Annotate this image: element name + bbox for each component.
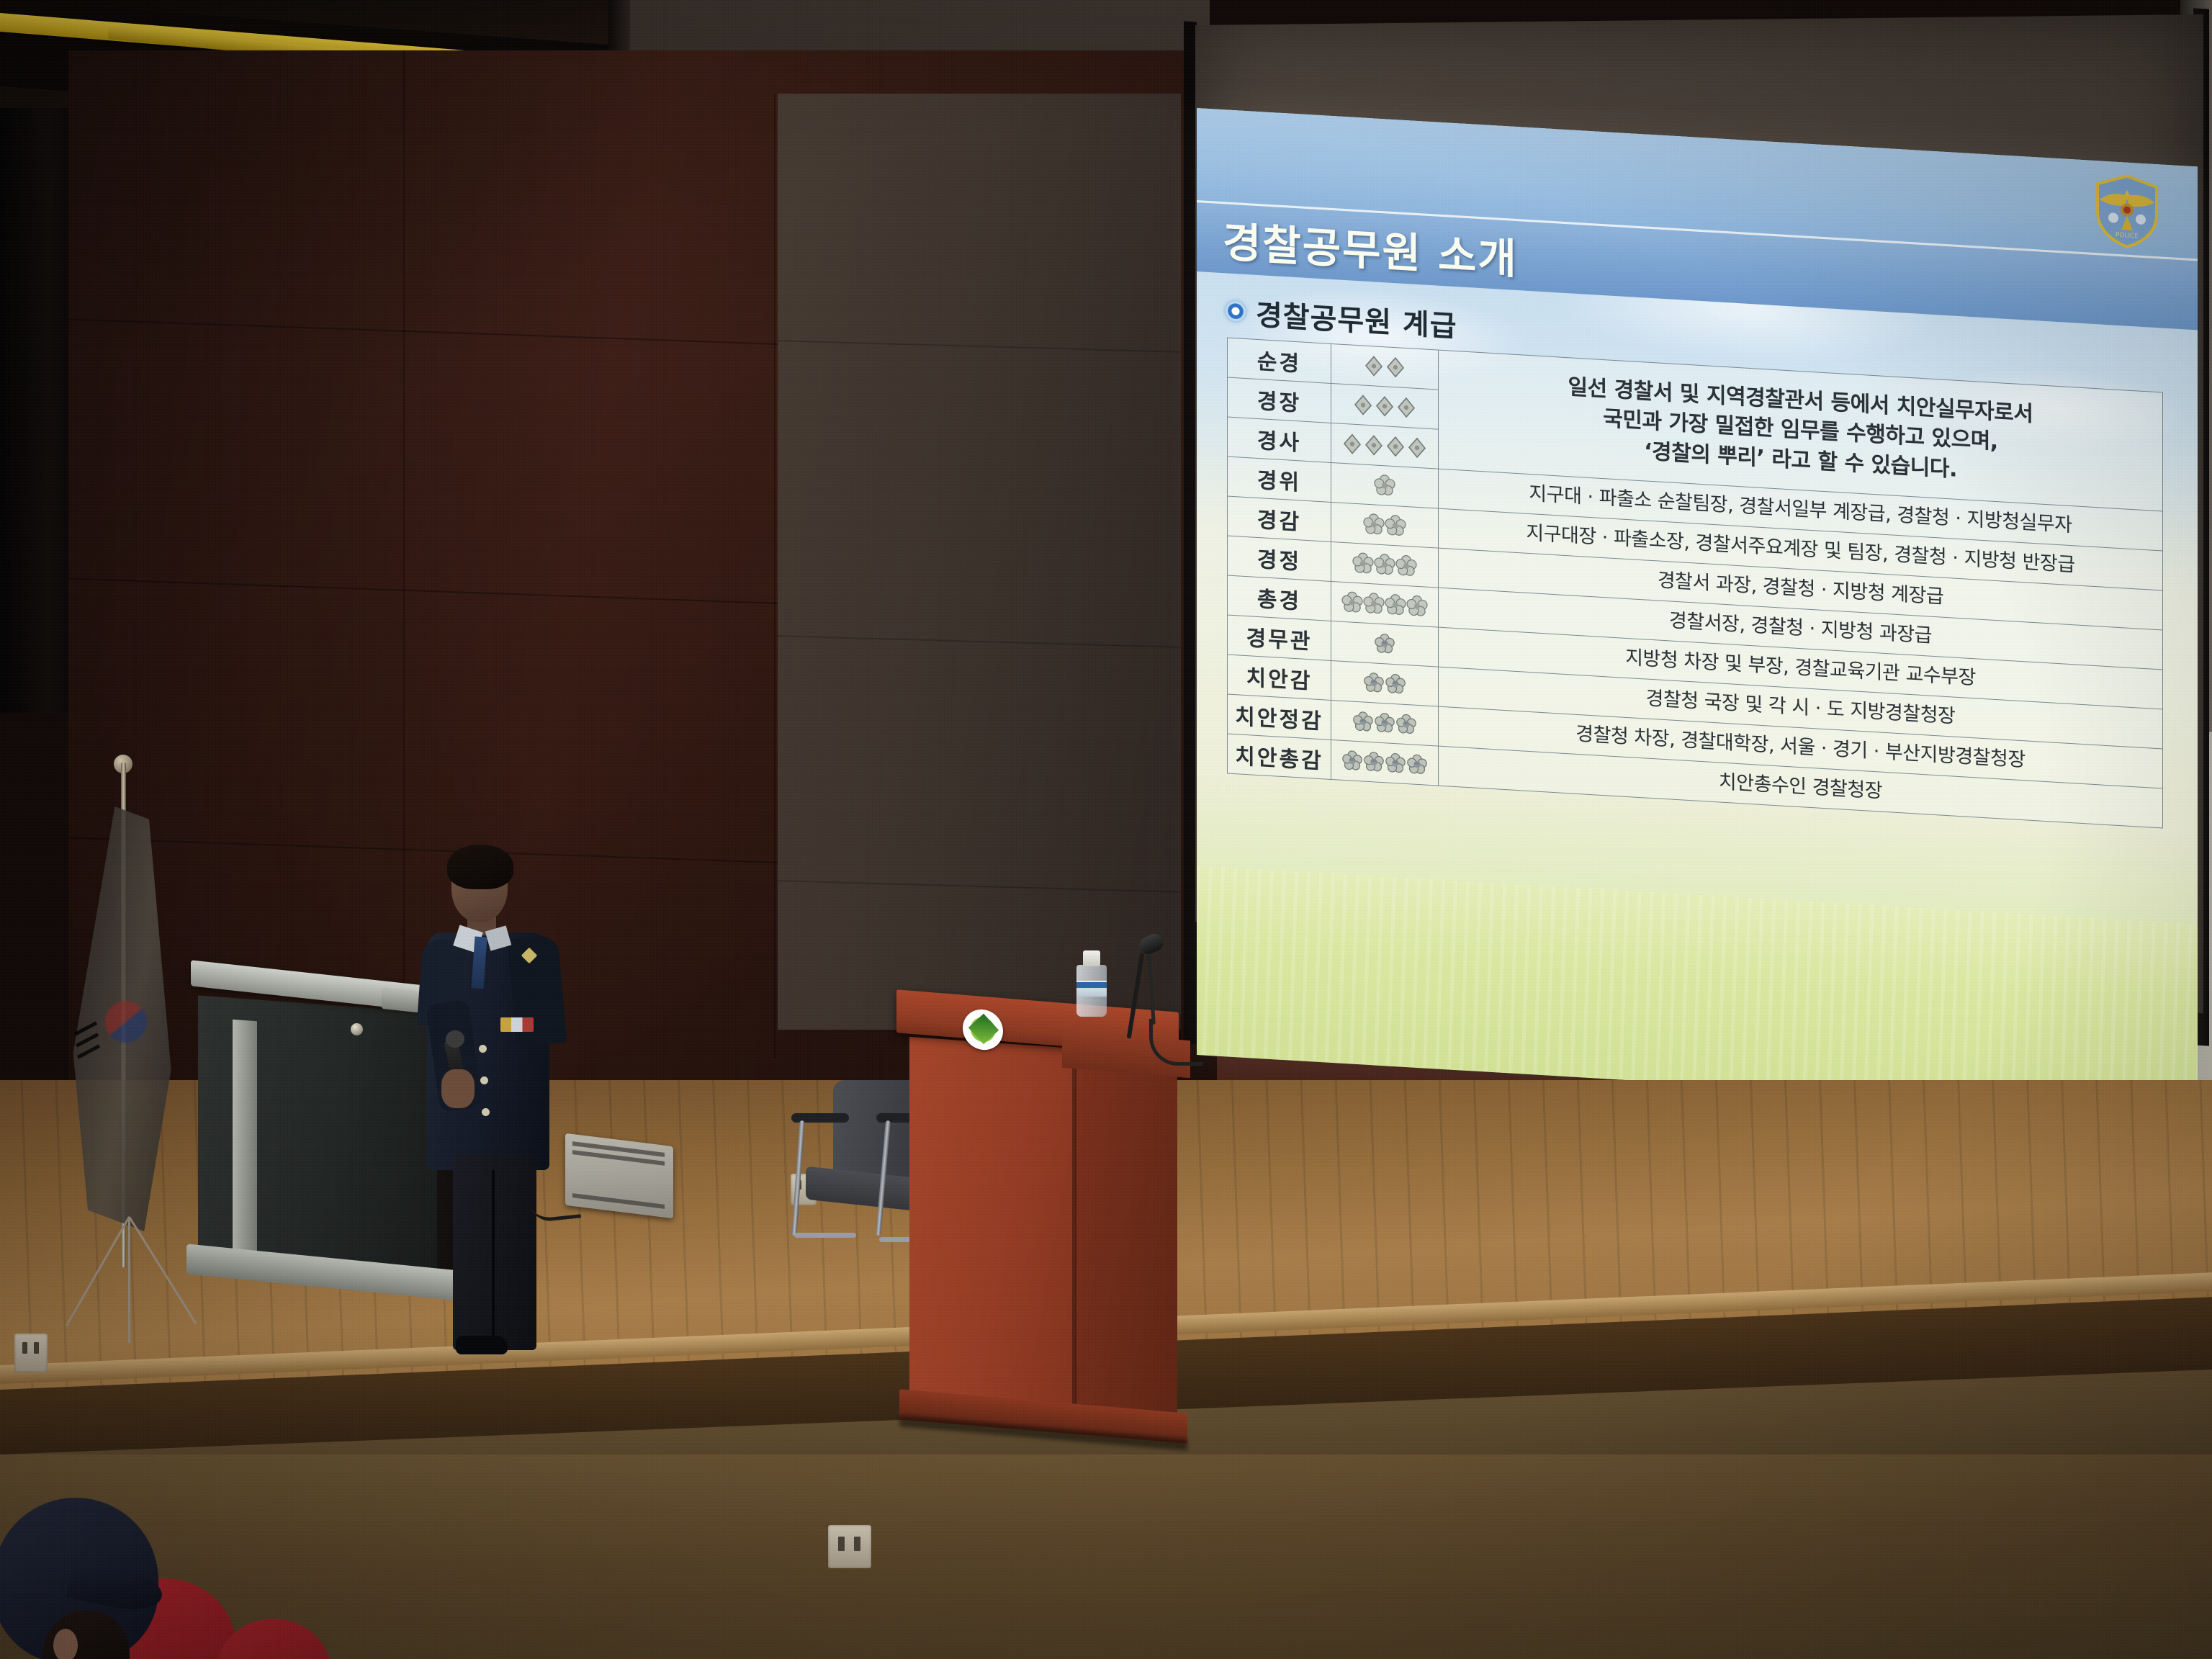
rank-insignia-cell <box>1331 462 1439 508</box>
rank-insignia-cell <box>1331 423 1439 469</box>
slide-subheading-text: 경찰공무원 계급 <box>1256 292 1457 345</box>
taeguk-star-insignia-icon <box>1371 631 1398 657</box>
projected-slide: POLICE 경찰공무원 소개 경찰공무원 계급 순경 일선 경찰서 및 지역경… <box>1197 108 2198 1113</box>
slide-subheading: 경찰공무원 계급 <box>1226 289 1457 345</box>
rank-name-cell: 치안감 <box>1228 655 1331 700</box>
audience-ear <box>53 1629 78 1659</box>
diamond-insignia-icon <box>1360 353 1409 380</box>
presenter-name-badge <box>500 1017 534 1032</box>
rank-insignia-cell <box>1331 581 1439 627</box>
audience-foreground <box>0 1469 302 1659</box>
taeguk-star-insignia-icon <box>1339 748 1431 778</box>
lectern-accent-stripe <box>233 1020 257 1259</box>
wall-seam-vertical <box>774 94 775 1058</box>
diamond-insignia-icon <box>1349 392 1420 421</box>
podium-front-panel <box>909 1037 1076 1408</box>
mic-gooseneck <box>1127 953 1145 1038</box>
wall-outlet <box>828 1525 871 1568</box>
taeguk-star-insignia-icon <box>1360 670 1409 697</box>
ring-bullet-icon <box>1226 300 1246 322</box>
presenter-hair <box>447 845 513 889</box>
rank-insignia-cell <box>1331 621 1439 667</box>
podium-side-panel <box>1075 1049 1177 1416</box>
wall-outlet <box>14 1334 48 1372</box>
auditorium-photo: POLICE 경찰공무원 소개 경찰공무원 계급 순경 일선 경찰서 및 지역경… <box>0 0 2212 1659</box>
mic-cable <box>1149 1019 1203 1066</box>
presenter-trousers <box>453 1154 536 1350</box>
lectern-knob <box>351 1023 363 1035</box>
rank-insignia-cell <box>1331 739 1439 786</box>
projection-screen: POLICE 경찰공무원 소개 경찰공무원 계급 순경 일선 경찰서 및 지역경… <box>1195 14 2212 1138</box>
mugunghwa-insignia-icon <box>1349 550 1420 579</box>
taeguk-star-insignia-icon <box>1349 709 1420 737</box>
slide-title: 경찰공무원 소개 <box>1223 208 1518 286</box>
presenter-shoe <box>456 1336 508 1354</box>
screen-left-edge <box>1184 21 1197 1044</box>
mugunghwa-insignia-icon <box>1339 590 1431 619</box>
rank-name-cell: 경위 <box>1228 457 1331 502</box>
rank-insignia-cell <box>1331 700 1439 746</box>
police-rank-table: 순경 일선 경찰서 및 지역경찰관서 등에서 치안실무자로서국민과 가장 밀접한… <box>1227 337 2163 828</box>
police-officer-presenter <box>392 832 608 1364</box>
water-bottle <box>1076 950 1107 1017</box>
mugunghwa-insignia-icon <box>1371 472 1398 498</box>
podium-corner-edge <box>1072 1048 1076 1413</box>
trouser-seam <box>492 1170 495 1343</box>
rank-name-cell: 치안총감 <box>1228 734 1331 779</box>
rank-name-cell: 경정 <box>1228 536 1331 581</box>
rank-name-cell: 경장 <box>1228 377 1331 423</box>
wooden-podium <box>896 1001 1199 1498</box>
rank-name-cell: 경사 <box>1228 417 1331 462</box>
south-korean-flag <box>43 763 209 1296</box>
floor-heater <box>565 1134 680 1220</box>
rank-insignia-cell <box>1331 343 1439 390</box>
mugunghwa-insignia-icon <box>1360 511 1409 539</box>
rank-insignia-cell <box>1331 502 1439 548</box>
taeguk-symbol <box>105 1001 147 1043</box>
emblem-text: POLICE <box>2116 232 2139 240</box>
rank-name-cell: 총경 <box>1228 575 1331 621</box>
mic-gooseneck-secondary <box>1146 945 1156 1025</box>
bottle-label-stripe <box>1076 982 1107 988</box>
diamond-insignia-icon <box>1339 431 1431 461</box>
korean-national-police-emblem: POLICE <box>2094 172 2160 251</box>
rank-name-cell: 경감 <box>1228 496 1331 541</box>
gooseneck-microphone <box>1118 932 1204 1062</box>
rank-insignia-cell <box>1331 541 1439 588</box>
rank-name-cell: 치안정감 <box>1228 694 1331 739</box>
microphone-capsule <box>446 1030 464 1048</box>
rank-insignia-cell <box>1331 660 1439 706</box>
presenter-hand <box>441 1069 475 1108</box>
rank-name-cell: 경무관 <box>1228 615 1331 660</box>
rank-name-cell: 순경 <box>1228 338 1331 383</box>
bottle-cap <box>1083 950 1100 966</box>
flag-tripod-stand <box>96 1217 161 1346</box>
rank-insignia-cell <box>1331 383 1439 429</box>
